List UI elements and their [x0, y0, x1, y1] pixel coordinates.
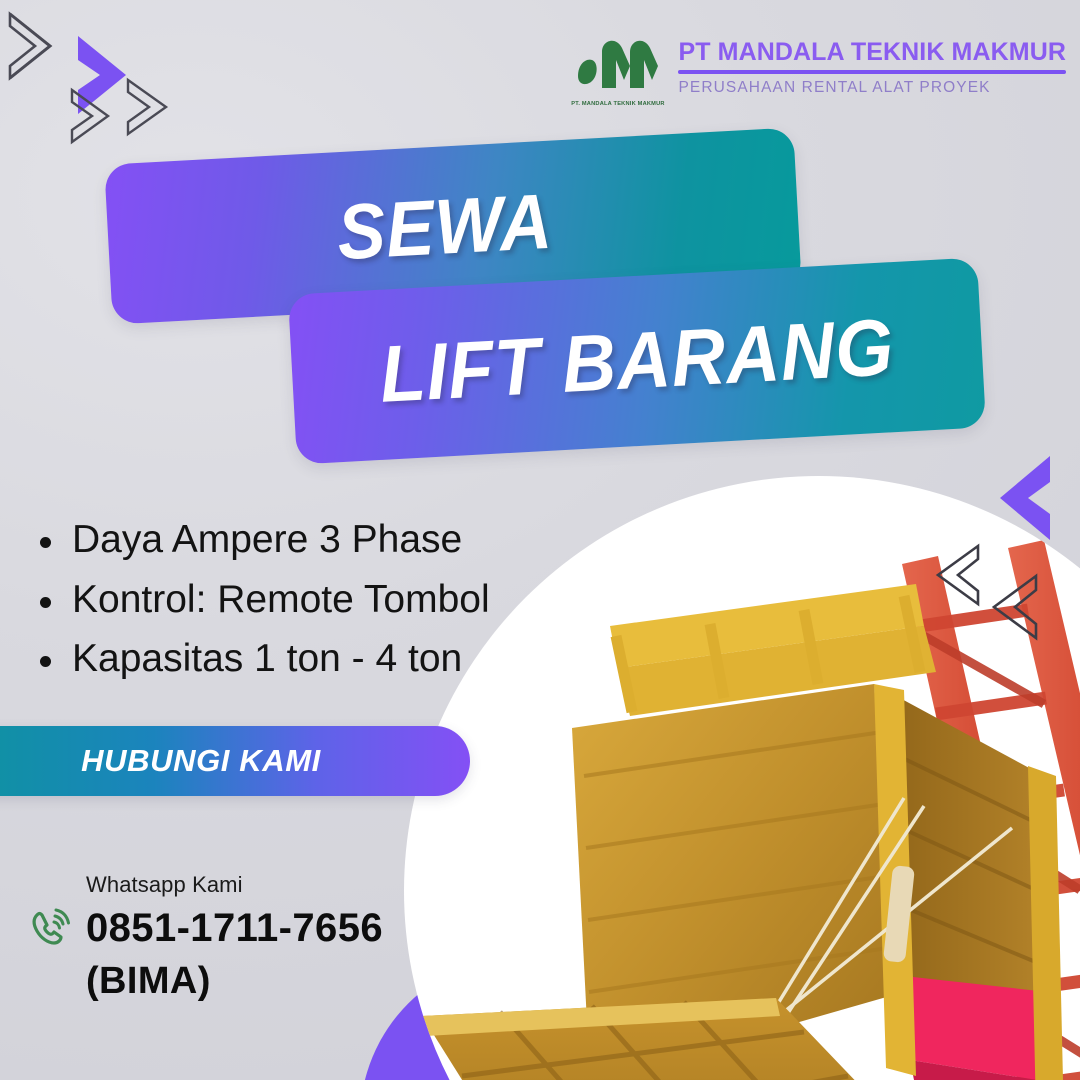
outline-chevron-right-icon — [122, 76, 178, 138]
brand-underline — [678, 70, 1066, 74]
contact-person-name: (BIMA) — [86, 960, 383, 1003]
contact-block: Whatsapp Kami 0851-1711-7656 (BIMA) — [24, 872, 383, 1003]
feature-item: Daya Ampere 3 Phase — [20, 516, 490, 564]
outline-chevron-right-icon — [2, 8, 64, 84]
brand-tagline: PERUSAHAAN RENTAL ALAT PROYEK — [678, 79, 1066, 97]
outline-chevron-left-icon — [928, 542, 988, 608]
solid-chevron-left-icon — [988, 452, 1060, 544]
brand-header: PT. MANDALA TEKNIK MAKMUR PT MANDALA TEK… — [572, 30, 1066, 106]
outline-chevron-right-icon — [66, 86, 122, 146]
logo-caption: PT. MANDALA TEKNIK MAKMUR — [570, 101, 667, 107]
mandala-m-logo-icon: PT. MANDALA TEKNIK MAKMUR — [572, 30, 664, 106]
brand-name: PT MANDALA TEKNIK MAKMUR — [678, 39, 1066, 65]
poster-canvas: PT. MANDALA TEKNIK MAKMUR PT MANDALA TEK… — [0, 0, 1080, 1080]
whatsapp-label: Whatsapp Kami — [86, 872, 383, 898]
outline-chevron-left-icon — [984, 572, 1046, 642]
headline-line-1: SEWA — [134, 170, 772, 282]
feature-item: Kapasitas 1 ton - 4 ton — [20, 635, 490, 683]
feature-item: Kontrol: Remote Tombol — [20, 576, 490, 624]
contact-us-cta-button[interactable]: HUBUNGI KAMI — [0, 726, 470, 796]
feature-list: Daya Ampere 3 Phase Kontrol: Remote Tomb… — [20, 516, 490, 695]
cta-label: HUBUNGI KAMI — [0, 743, 470, 779]
phone-number[interactable]: 0851-1711-7656 — [86, 906, 383, 951]
headline-banner-secondary: LIFT BARANG — [288, 257, 986, 464]
headline-line-2: LIFT BARANG — [314, 304, 959, 419]
whatsapp-phone-icon — [24, 902, 76, 954]
